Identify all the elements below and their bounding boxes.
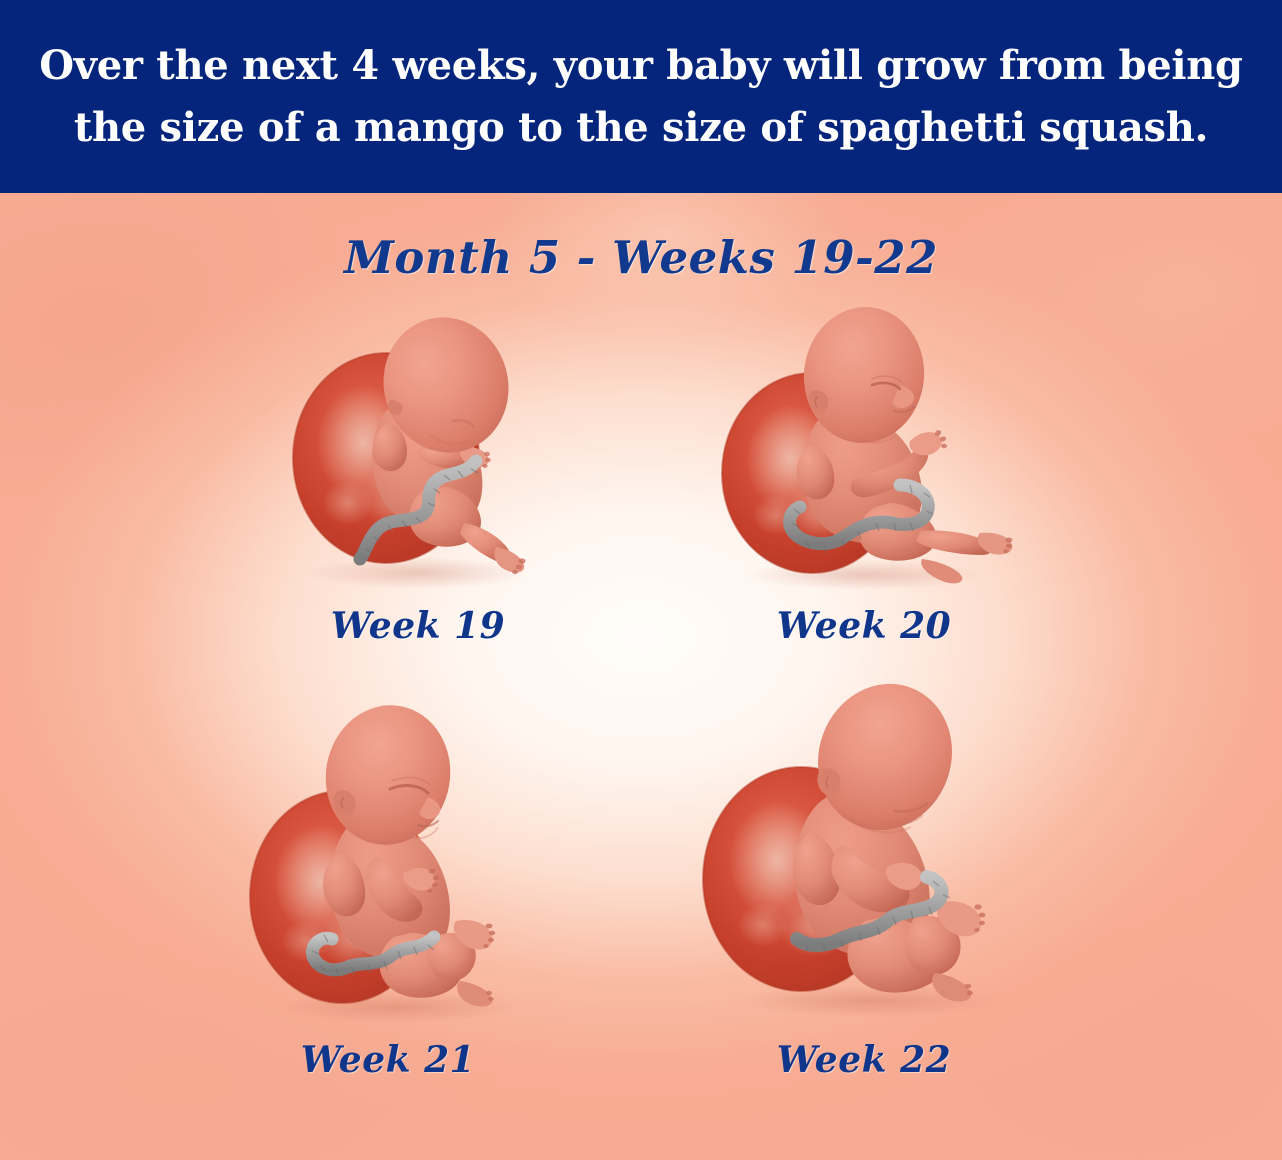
fetus-with-placenta-week-22-illustration [689, 671, 1039, 1021]
stage-week-19 [208, 293, 628, 593]
week-label-22: Week 22 [654, 1039, 1074, 1081]
stage-week-22 [654, 671, 1074, 1021]
pregnancy-week-infographic: Over the next 4 weeks, your baby will gr… [0, 0, 1282, 1160]
fetus-with-placenta-week-19-illustration [268, 293, 568, 593]
week-label-19: Week 19 [208, 605, 628, 647]
stage-week-21 [178, 685, 598, 1025]
fetus-with-placenta-week-21-illustration [228, 685, 548, 1025]
fetus-with-placenta-week-20-illustration [704, 293, 1024, 593]
fetus-stage-grid: Week 19 Week 20 Week 21 Week 22 [0, 193, 1282, 1160]
illustration-area: Month 5 - Weeks 19-22 [0, 193, 1282, 1160]
week-label-21: Week 21 [178, 1039, 598, 1081]
stage-week-20 [654, 293, 1074, 593]
header-line-1: Over the next 4 weeks, your baby will gr… [39, 35, 1242, 97]
header-line-2: the size of a mango to the size of spagh… [74, 97, 1208, 159]
week-label-20: Week 20 [654, 605, 1074, 647]
header-banner: Over the next 4 weeks, your baby will gr… [0, 0, 1282, 193]
